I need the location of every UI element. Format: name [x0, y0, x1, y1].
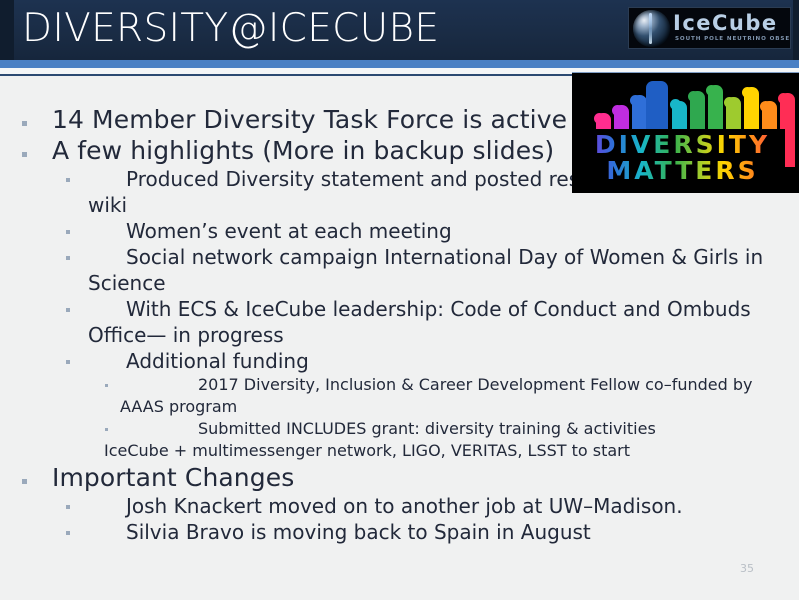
page-number: 35 [740, 562, 754, 576]
page-title: DIVERSITY@ICECUBE [22, 2, 439, 56]
icecube-logo: IceCube South Pole Neutrino Observatory [628, 7, 791, 49]
diversity-matters-line1: DIVERSITY [580, 131, 785, 159]
bullet-marker-icon [105, 428, 108, 431]
bullet-text: Social network campaign International Da… [88, 244, 799, 296]
header-accent-bar [0, 60, 799, 68]
diversity-matters-graphic: DIVERSITY MATTERS [572, 72, 799, 193]
bullet-text: Silvia Bravo is moving back to Spain in … [88, 519, 799, 545]
bullet-text: Submitted INCLUDES grant: diversity trai… [120, 418, 799, 440]
bullet-text: Additional funding [88, 348, 799, 374]
bullet-item: Important Changes [0, 462, 799, 493]
bullet-text: 2017 Diversity, Inclusion & Career Devel… [120, 374, 799, 418]
bullet-item: Women’s event at each meeting [0, 218, 799, 244]
bullet-marker-icon [66, 531, 70, 535]
header-right-edge [793, 0, 799, 60]
slide-header: DIVERSITY@ICECUBE IceCube South Pole Neu… [0, 0, 799, 60]
bullet-item: IceCube + multimessenger network, LIGO, … [0, 440, 799, 462]
bullet-item: Social network campaign International Da… [0, 244, 799, 296]
icecube-logo-tagline: South Pole Neutrino Observatory [675, 35, 791, 43]
bullet-text: With ECS & IceCube leadership: Code of C… [88, 296, 799, 348]
bullet-marker-icon [22, 152, 27, 157]
bullet-marker-icon [66, 178, 70, 182]
bullet-item: Submitted INCLUDES grant: diversity trai… [0, 418, 799, 440]
bullet-marker-icon [105, 384, 108, 387]
bullet-marker-icon [66, 230, 70, 234]
icecube-logo-wordmark: IceCube [673, 11, 778, 35]
bullet-item: 2017 Diversity, Inclusion & Career Devel… [0, 374, 799, 418]
slide-canvas: DIVERSITY@ICECUBE IceCube South Pole Neu… [0, 0, 799, 600]
bullet-marker-icon [66, 256, 70, 260]
bullet-marker-icon [22, 121, 27, 126]
diversity-matters-text-band: DIVERSITY MATTERS [580, 129, 785, 189]
bullet-text: Women’s event at each meeting [88, 218, 799, 244]
bullet-marker-icon [66, 360, 70, 364]
bullet-marker-icon [66, 308, 70, 312]
bullet-item: Josh Knackert moved on to another job at… [0, 493, 799, 519]
bullet-item: With ECS & IceCube leadership: Code of C… [0, 296, 799, 348]
header-left-edge [0, 0, 14, 60]
bullet-text: IceCube + multimessenger network, LIGO, … [104, 440, 799, 462]
diversity-matters-line2: MATTERS [580, 157, 785, 185]
bullet-marker-icon [22, 479, 27, 484]
bullet-item: Additional funding [0, 348, 799, 374]
bullet-item: Silvia Bravo is moving back to Spain in … [0, 519, 799, 545]
bullet-text: Josh Knackert moved on to another job at… [88, 493, 799, 519]
bullet-text: Important Changes [52, 462, 799, 493]
bullet-marker-icon [66, 505, 70, 509]
icecube-globe-icon [633, 10, 670, 47]
